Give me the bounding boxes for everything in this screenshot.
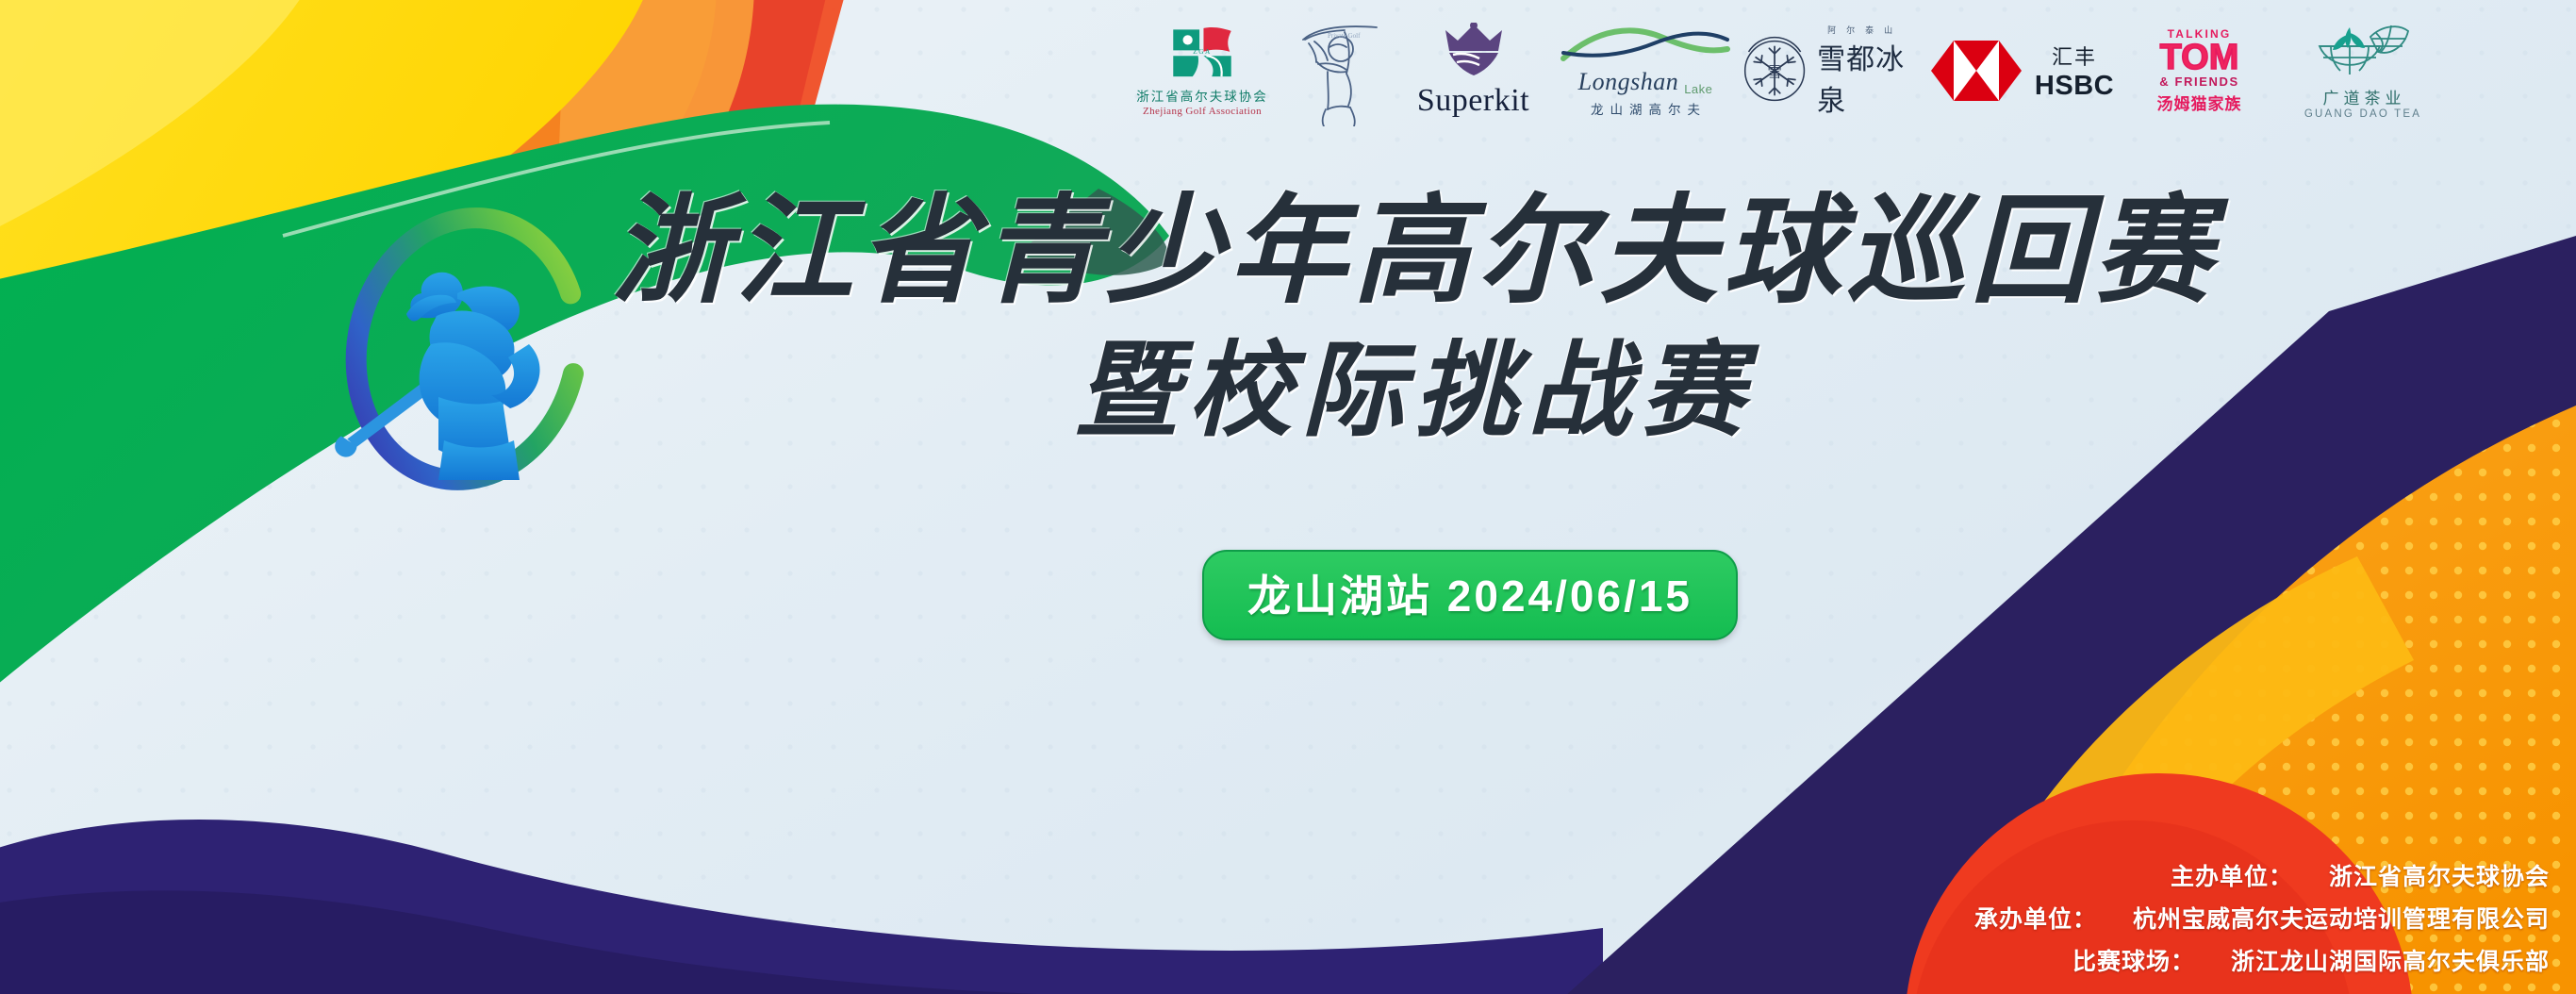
- sponsor-logo-longshan-lake: Longshan Lake 龙山湖高尔夫: [1551, 0, 1740, 141]
- title-block: 浙江省青少年高尔夫球巡回赛 暨校际挑战赛: [585, 184, 2244, 456]
- svg-text:ZGA: ZGA: [1193, 47, 1211, 56]
- credits-block: 主办单位： 浙江省高尔夫球协会 承办单位： 杭州宝威高尔夫运动培训管理有限公司 …: [1974, 858, 2550, 977]
- sponsor-name-cn: 广道茶业: [2319, 85, 2406, 108]
- sponsor-name-cn: 汇丰: [2052, 41, 2097, 71]
- sponsor-logo-zhejiang-golf-association: ZGA 浙江省高尔夫球协会 Zhejiang Golf Association: [1122, 0, 1282, 141]
- sponsor-logo-strip: ZGA 浙江省高尔夫球协会 Zhejiang Golf Association: [1122, 0, 2576, 141]
- sponsor-name-en: GUANG DAO TEA: [2303, 108, 2421, 120]
- snowflake-icon: 雪: [1740, 34, 1809, 108]
- sponsor-name-en-sub: Lake: [1684, 82, 1712, 96]
- svg-text:雪: 雪: [1767, 65, 1781, 81]
- page-subtitle: 暨校际挑战赛: [585, 327, 2244, 457]
- longshan-wave-icon: [1560, 25, 1731, 68]
- golfer-sketch-icon: Private Golf: [1286, 15, 1392, 126]
- sponsor-name-cn-top: 阿尔泰山: [1817, 24, 1903, 36]
- credit-row-host: 承办单位： 杭州宝威高尔夫运动培训管理有限公司: [1974, 901, 2550, 935]
- credit-label: 主办单位：: [2171, 858, 2329, 892]
- credit-value: 杭州宝威高尔夫运动培训管理有限公司: [2133, 901, 2550, 935]
- tea-globe-icon: [2312, 22, 2412, 82]
- credit-label: 承办单位：: [1974, 901, 2133, 935]
- sponsor-name-en: HSBC: [2035, 71, 2114, 102]
- credit-value: 浙江龙山湖国际高尔夫俱乐部: [2231, 943, 2550, 977]
- sketch-caption: Private Golf: [1328, 32, 1361, 40]
- credit-label: 比赛球场：: [2072, 943, 2231, 977]
- sponsor-name-cn: 雪都冰泉: [1817, 36, 1928, 119]
- sponsor-name-en: Zhejiang Golf Association: [1143, 106, 1262, 117]
- tournament-banner: ZGA 浙江省高尔夫球协会 Zhejiang Golf Association: [0, 0, 2576, 994]
- credit-row-venue: 比赛球场： 浙江龙山湖国际高尔夫俱乐部: [2072, 943, 2550, 977]
- sponsor-logo-talking-tom-and-friends: TALKING TOM & FRIENDS 汤姆猫家族: [2117, 0, 2282, 141]
- credit-row-organizer: 主办单位： 浙江省高尔夫球协会: [2171, 858, 2550, 892]
- crown-icon: [1442, 23, 1506, 81]
- sponsor-name-en: Superkit: [1417, 83, 1529, 119]
- hsbc-hexagon-icon: [1931, 39, 2022, 103]
- sponsor-logo-guang-dao-tea: 广道茶业 GUANG DAO TEA: [2282, 0, 2442, 141]
- sponsor-name-cn: 龙山湖高尔夫: [1584, 99, 1707, 118]
- sponsor-logo-golfer-sketch: Private Golf: [1282, 0, 1395, 141]
- credit-value: 浙江省高尔夫球协会: [2329, 858, 2550, 892]
- sponsor-name-en-sub: & FRIENDS: [2159, 75, 2238, 89]
- sponsor-logo-superkit: Superkit: [1395, 0, 1551, 141]
- sponsor-logo-xuedu-bingquan: 雪 阿尔泰山 雪都冰泉: [1740, 0, 1928, 141]
- golfer-ring-emblem: [325, 203, 608, 495]
- sponsor-name-cn: 浙江省高尔夫球协会: [1136, 86, 1268, 105]
- sponsor-logo-hsbc: 汇丰 HSBC: [1928, 0, 2117, 141]
- date-badge: 龙山湖站 2024/06/15: [1202, 550, 1738, 640]
- sponsor-name-en: Longshan: [1578, 68, 1679, 96]
- foreground-paper-edge: [0, 0, 2576, 994]
- page-title: 浙江省青少年高尔夫球巡回赛: [585, 184, 2244, 323]
- sponsor-name-en-big: TOM: [2160, 41, 2239, 75]
- sponsor-name-cn: 汤姆猫家族: [2157, 91, 2242, 114]
- zga-flag-icon: ZGA: [1167, 25, 1237, 82]
- date-badge-label: 龙山湖站 2024/06/15: [1247, 562, 1693, 624]
